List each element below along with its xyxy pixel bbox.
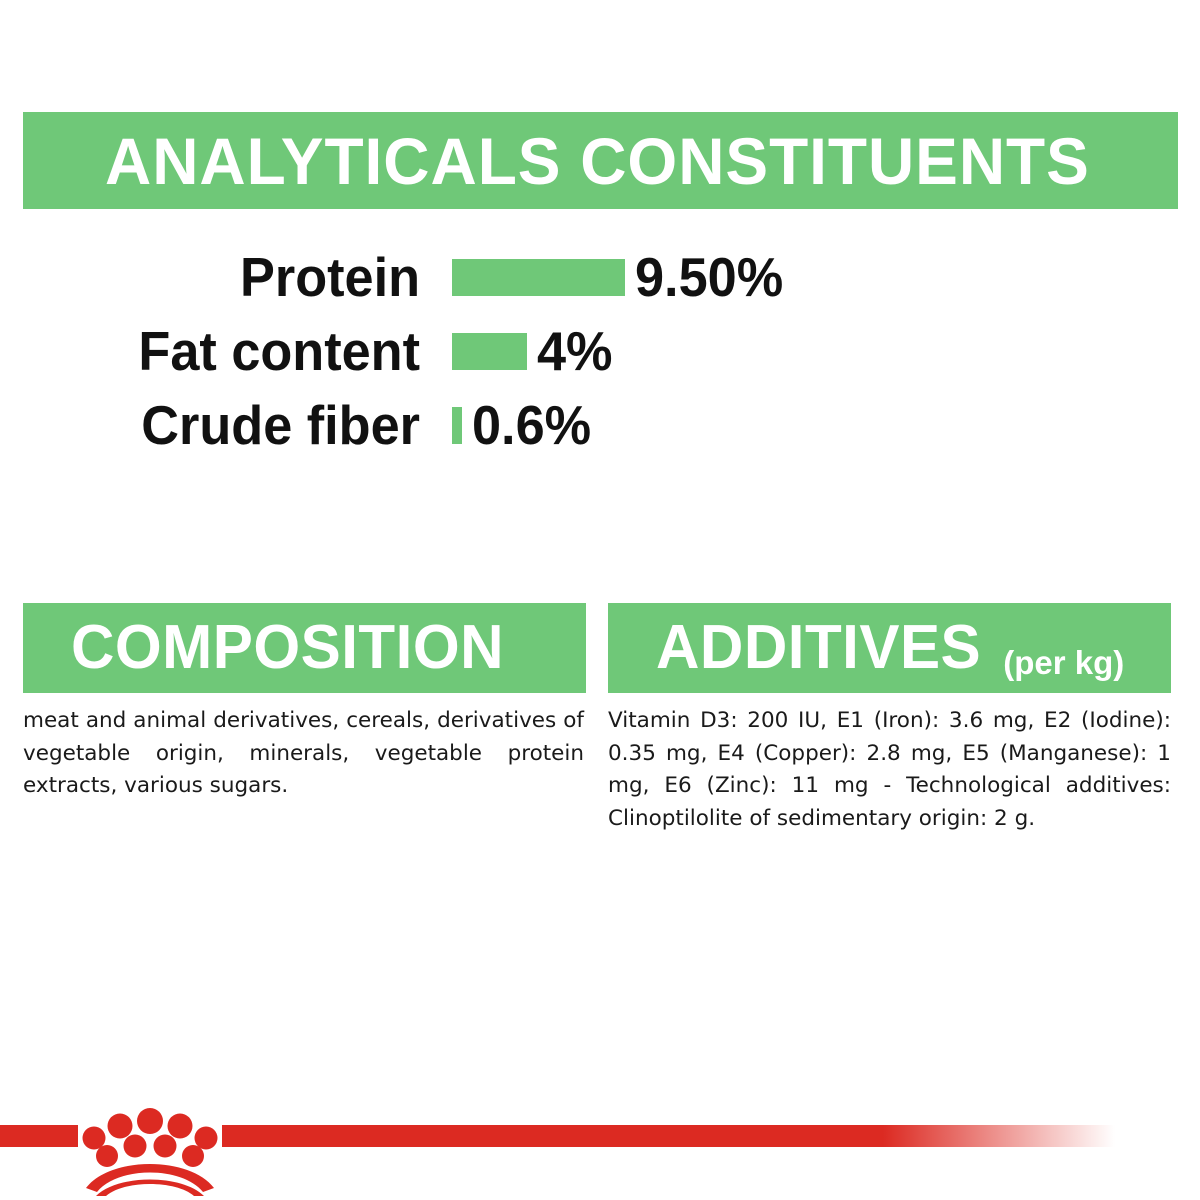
additives-header-unit: (per kg) [1003,646,1124,697]
additives-header-title: ADDITIVES [656,617,981,679]
constituent-label: Fat content [21,324,420,379]
constituents-chart: Protein 9.50% Fat content 4% Crude fiber… [0,240,1200,462]
constituent-row: Crude fiber 0.6% [0,388,1200,462]
constituent-value: 0.6% [472,398,591,453]
constituent-value: 4% [537,324,613,379]
constituent-bar-group: 4% [452,324,617,379]
constituent-bar [452,259,625,296]
nutrition-panel: ANALYTICALS CONSTITUENTS Protein 9.50% F… [0,0,1200,1200]
footer-rule-left [0,1125,78,1147]
royal-canin-crown-icon [82,1106,218,1196]
constituent-bar [452,407,462,444]
composition-section: COMPOSITION meat and animal derivatives,… [23,603,586,836]
constituent-label: Protein [21,250,420,305]
additives-section: ADDITIVES (per kg) Vitamin D3: 200 IU, E… [608,603,1171,836]
detail-columns: COMPOSITION meat and animal derivatives,… [23,603,1178,836]
footer-rule-right [222,1125,1115,1147]
constituent-row: Protein 9.50% [0,240,1200,314]
constituent-label: Crude fiber [21,398,420,453]
composition-header-title: COMPOSITION [71,617,504,679]
banner-title: ANALYTICALS CONSTITUENTS [105,128,1090,194]
constituent-bar [452,333,527,370]
brand-footer [0,1120,1200,1200]
constituent-bar-group: 9.50% [452,250,791,305]
additives-header: ADDITIVES (per kg) [608,603,1171,693]
constituent-bar-group: 0.6% [452,398,597,453]
composition-body: meat and animal derivatives, cereals, de… [23,693,586,803]
constituent-value: 9.50% [635,250,783,305]
constituent-row: Fat content 4% [0,314,1200,388]
additives-body: Vitamin D3: 200 IU, E1 (Iron): 3.6 mg, E… [608,693,1171,836]
analyticals-constituents-banner: ANALYTICALS CONSTITUENTS [23,112,1178,209]
composition-header: COMPOSITION [23,603,586,693]
